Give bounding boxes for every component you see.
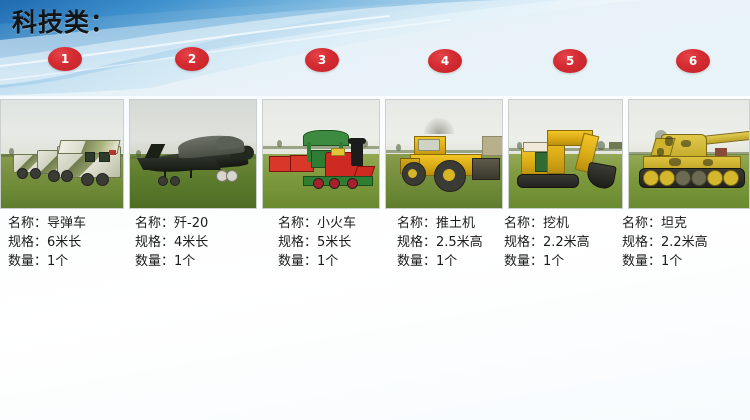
tree [277, 140, 282, 147]
spec-name-1: 名称：导弹车 [8, 214, 86, 233]
background-vehicle [715, 148, 727, 156]
marking [109, 150, 116, 155]
thumbnail-row [0, 99, 750, 209]
cab-window [418, 139, 440, 151]
spec-block-6: 名称：坦克 规格：2.2米高 数量：1个 [622, 214, 708, 271]
spec-size-2: 规格：4米长 [135, 233, 208, 252]
spec-name-6: 名称：坦克 [622, 214, 708, 233]
camo-spot [665, 136, 673, 146]
camo-spot [657, 148, 664, 156]
train-trim [331, 148, 345, 156]
smokestack-cap [348, 138, 366, 144]
excavator-track [517, 174, 579, 188]
photo-j20-jet[interactable] [129, 99, 258, 209]
spec-block-2: 名称：歼-20 规格：4米长 数量：1个 [135, 214, 208, 271]
badge-3[interactable]: 3 [305, 48, 339, 72]
wheel [96, 173, 109, 186]
background-structure [482, 136, 503, 156]
wheel [17, 168, 28, 179]
camo-spot [669, 158, 681, 166]
tree [396, 144, 401, 151]
wheel [30, 168, 41, 179]
spec-name-5: 名称：挖机 [504, 214, 590, 233]
spec-block-5: 名称：挖机 规格：2.2米高 数量：1个 [504, 214, 590, 271]
landing-gear [190, 168, 192, 178]
spec-qty-5: 数量：1个 [504, 252, 590, 271]
spec-list: 名称：导弹车 规格：6米长 数量：1个 名称：歼-20 规格：4米长 数量：1个… [0, 214, 750, 276]
photo-excavator[interactable] [508, 99, 624, 209]
spec-block-3: 名称：小火车 规格：5米长 数量：1个 [278, 214, 356, 271]
cab-window [85, 152, 95, 162]
spec-name-3: 名称：小火车 [278, 214, 356, 233]
wheel [170, 176, 180, 186]
photo-missile-truck[interactable] [0, 99, 124, 209]
spec-block-4: 名称：推土机 规格：2.5米高 数量：1个 [397, 214, 483, 271]
spec-size-1: 规格：6米长 [8, 233, 86, 252]
spec-name-2: 名称：歼-20 [135, 214, 208, 233]
spec-size-5: 规格：2.2米高 [504, 233, 590, 252]
spec-size-6: 规格：2.2米高 [622, 233, 708, 252]
background-structure [609, 142, 624, 149]
page-title: 科技类： [12, 8, 116, 38]
tree [136, 150, 141, 157]
nose-wheel [226, 170, 238, 182]
spec-qty-4: 数量：1个 [397, 252, 483, 271]
badge-2[interactable]: 2 [175, 47, 209, 71]
spec-qty-6: 数量：1个 [622, 252, 708, 271]
wheel [48, 170, 60, 182]
badge-5[interactable]: 5 [553, 49, 587, 73]
page-root: 科技类： 1 2 3 4 5 6 [0, 0, 750, 420]
spec-size-4: 规格：2.5米高 [397, 233, 483, 252]
spec-qty-2: 数量：1个 [135, 252, 208, 271]
camo-spot [703, 159, 713, 166]
badge-6[interactable]: 6 [676, 49, 710, 73]
photo-small-train[interactable] [262, 99, 380, 209]
wheel [81, 173, 94, 186]
camo-spot [681, 140, 691, 147]
spec-qty-3: 数量：1个 [278, 252, 356, 271]
photo-bulldozer[interactable] [385, 99, 503, 209]
spec-qty-1: 数量：1个 [8, 252, 86, 271]
spec-size-3: 规格：5米长 [278, 233, 356, 252]
dozer-blade [472, 158, 500, 180]
exhaust-fan [424, 118, 454, 134]
spec-block-1: 名称：导弹车 规格：6米长 数量：1个 [8, 214, 86, 271]
photo-tank[interactable] [628, 99, 750, 209]
spec-name-4: 名称：推土机 [397, 214, 483, 233]
train-car [269, 156, 291, 172]
wheel-hub [408, 169, 417, 178]
header-banner: 科技类： [0, 0, 750, 96]
badge-4[interactable]: 4 [428, 49, 462, 73]
wheel [158, 176, 168, 186]
wheel-hub [443, 169, 455, 181]
jet-wing [136, 158, 220, 170]
badge-1[interactable]: 1 [48, 47, 82, 71]
wheel [61, 170, 73, 182]
